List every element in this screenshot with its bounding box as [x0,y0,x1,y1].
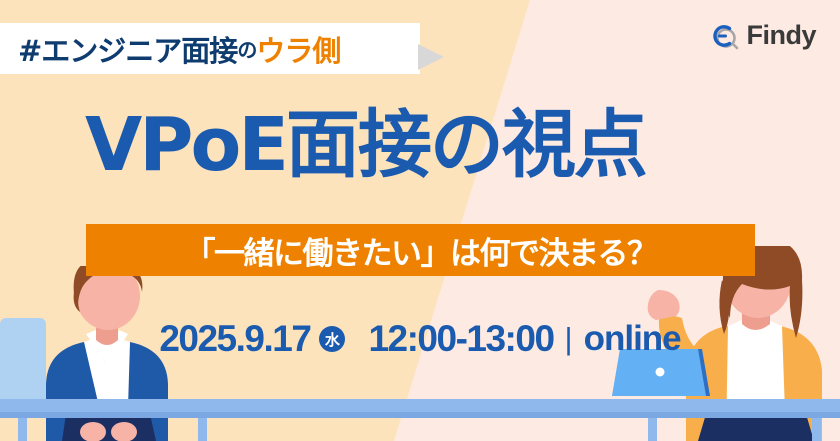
ribbon-particle: の [237,34,256,63]
findy-logo-text: Findy [747,20,817,51]
event-details: 2025.9.17 水 12:00-13:00 | online [0,318,840,360]
topic-ribbon-text: #エンジニア面接のウラ側 [0,23,420,74]
topic-ribbon: #エンジニア面接のウラ側 [0,23,420,74]
event-time: 12:00-13:00 [368,318,553,360]
page-title-japanese: 面接の視点 [286,102,646,188]
ribbon-highlight: ウラ側 [256,28,340,70]
event-date: 2025.9.17 [159,318,310,360]
page-title-latin: VPoE [85,102,286,188]
event-separator: | [565,321,573,357]
ribbon-topic: #エンジニア面接 [18,28,237,70]
page-title: VPoE面接の視点 [85,108,646,182]
findy-logo: Findy [709,20,817,51]
desk [0,399,840,441]
event-format: online [584,319,681,359]
webinar-banner: #エンジニア面接のウラ側 Findy VPoE面接の視点 「一緒に働きたい」は何… [0,0,840,441]
subtitle-text: 「一緒に働きたい」は何で決まる？ [185,228,657,273]
findy-search-mark-icon [709,21,739,51]
event-weekday-badge: 水 [319,326,345,352]
ribbon-fold-arrow-icon [418,44,444,70]
subtitle-bar: 「一緒に働きたい」は何で決まる？ [86,224,755,276]
